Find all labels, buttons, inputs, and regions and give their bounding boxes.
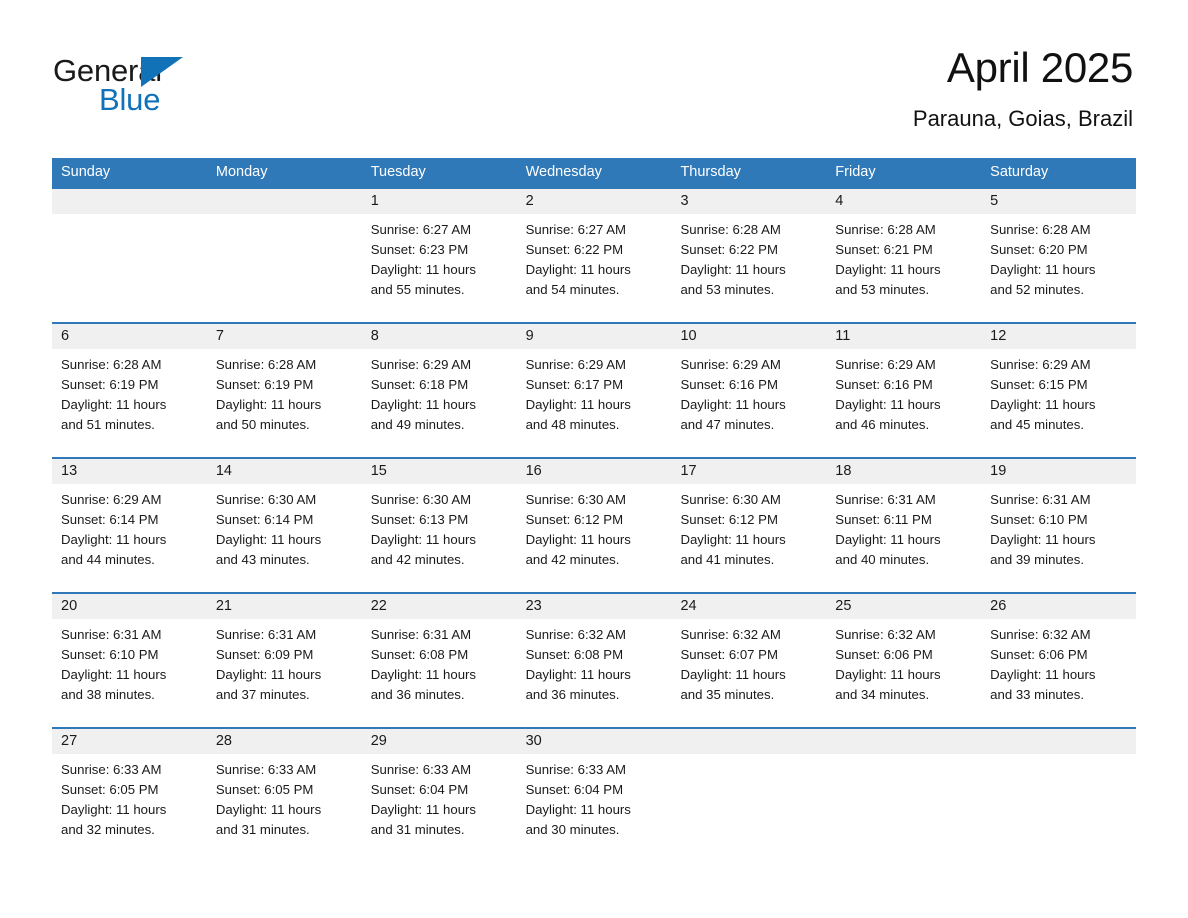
day-info: Sunrise: 6:31 AM Sunset: 6:09 PM Dayligh… — [216, 625, 353, 705]
day-number: 11 — [835, 324, 972, 349]
sunset-text: Sunset: 6:23 PM — [371, 240, 508, 260]
weekday-header-monday: Monday — [207, 158, 362, 187]
sunrise-text: Sunrise: 6:32 AM — [835, 625, 972, 645]
day-number: 23 — [526, 594, 663, 619]
daylight-text-line2: and 34 minutes. — [835, 685, 972, 705]
sunrise-text: Sunrise: 6:33 AM — [61, 760, 198, 780]
sunrise-text: Sunrise: 6:29 AM — [61, 490, 198, 510]
daylight-text-line2: and 50 minutes. — [216, 415, 353, 435]
sunset-text: Sunset: 6:14 PM — [216, 510, 353, 530]
daylight-text-line2: and 52 minutes. — [990, 280, 1127, 300]
daylight-text-line1: Daylight: 11 hours — [216, 665, 353, 685]
daylight-text-line2: and 33 minutes. — [990, 685, 1127, 705]
sunrise-text: Sunrise: 6:27 AM — [526, 220, 663, 240]
day-number: 16 — [526, 459, 663, 484]
daylight-text-line1: Daylight: 11 hours — [371, 395, 508, 415]
day-cell[interactable]: 11 Sunrise: 6:29 AM Sunset: 6:16 PM Dayl… — [826, 324, 981, 457]
day-cell[interactable]: 28 Sunrise: 6:33 AM Sunset: 6:05 PM Dayl… — [207, 729, 362, 857]
day-cell[interactable] — [52, 189, 207, 322]
daylight-text-line1: Daylight: 11 hours — [835, 395, 972, 415]
daylight-text-line2: and 49 minutes. — [371, 415, 508, 435]
day-info: Sunrise: 6:27 AM Sunset: 6:22 PM Dayligh… — [526, 220, 663, 300]
page-title: April 2025 — [913, 44, 1133, 92]
daylight-text-line1: Daylight: 11 hours — [990, 530, 1127, 550]
sunset-text: Sunset: 6:10 PM — [61, 645, 198, 665]
day-number: 20 — [61, 594, 198, 619]
daylight-text-line2: and 32 minutes. — [61, 820, 198, 840]
day-number: 24 — [680, 594, 817, 619]
day-cell[interactable]: 8 Sunrise: 6:29 AM Sunset: 6:18 PM Dayli… — [362, 324, 517, 457]
sunrise-text: Sunrise: 6:30 AM — [371, 490, 508, 510]
daylight-text-line1: Daylight: 11 hours — [680, 665, 817, 685]
day-number: 18 — [835, 459, 972, 484]
daylight-text-line2: and 55 minutes. — [371, 280, 508, 300]
daylight-text-line1: Daylight: 11 hours — [216, 800, 353, 820]
daylight-text-line2: and 54 minutes. — [526, 280, 663, 300]
daylight-text-line1: Daylight: 11 hours — [990, 665, 1127, 685]
sunset-text: Sunset: 6:04 PM — [526, 780, 663, 800]
sunset-text: Sunset: 6:07 PM — [680, 645, 817, 665]
day-number: 12 — [990, 324, 1127, 349]
day-number: 5 — [990, 189, 1127, 214]
day-cell[interactable]: 2 Sunrise: 6:27 AM Sunset: 6:22 PM Dayli… — [517, 189, 672, 322]
daylight-text-line2: and 36 minutes. — [371, 685, 508, 705]
calendar-week-row: 6 Sunrise: 6:28 AM Sunset: 6:19 PM Dayli… — [52, 322, 1136, 457]
day-cell[interactable]: 10 Sunrise: 6:29 AM Sunset: 6:16 PM Dayl… — [671, 324, 826, 457]
sunrise-text: Sunrise: 6:33 AM — [216, 760, 353, 780]
daylight-text-line2: and 41 minutes. — [680, 550, 817, 570]
day-cell[interactable]: 30 Sunrise: 6:33 AM Sunset: 6:04 PM Dayl… — [517, 729, 672, 857]
sunset-text: Sunset: 6:19 PM — [216, 375, 353, 395]
day-cell[interactable]: 5 Sunrise: 6:28 AM Sunset: 6:20 PM Dayli… — [981, 189, 1136, 322]
daylight-text-line2: and 46 minutes. — [835, 415, 972, 435]
day-number: 2 — [526, 189, 663, 214]
daylight-text-line2: and 44 minutes. — [61, 550, 198, 570]
day-number: 25 — [835, 594, 972, 619]
day-number: 14 — [216, 459, 353, 484]
day-cell[interactable]: 22 Sunrise: 6:31 AM Sunset: 6:08 PM Dayl… — [362, 594, 517, 727]
weekday-header-wednesday: Wednesday — [517, 158, 672, 187]
day-cell[interactable]: 27 Sunrise: 6:33 AM Sunset: 6:05 PM Dayl… — [52, 729, 207, 857]
day-cell[interactable]: 4 Sunrise: 6:28 AM Sunset: 6:21 PM Dayli… — [826, 189, 981, 322]
sunrise-text: Sunrise: 6:29 AM — [371, 355, 508, 375]
sunrise-text: Sunrise: 6:31 AM — [371, 625, 508, 645]
day-number — [216, 189, 353, 214]
day-info: Sunrise: 6:27 AM Sunset: 6:23 PM Dayligh… — [371, 220, 508, 300]
daylight-text-line2: and 35 minutes. — [680, 685, 817, 705]
day-info: Sunrise: 6:32 AM Sunset: 6:07 PM Dayligh… — [680, 625, 817, 705]
sunset-text: Sunset: 6:10 PM — [990, 510, 1127, 530]
day-info: Sunrise: 6:28 AM Sunset: 6:21 PM Dayligh… — [835, 220, 972, 300]
day-number: 6 — [61, 324, 198, 349]
day-cell[interactable]: 26 Sunrise: 6:32 AM Sunset: 6:06 PM Dayl… — [981, 594, 1136, 727]
day-cell[interactable]: 21 Sunrise: 6:31 AM Sunset: 6:09 PM Dayl… — [207, 594, 362, 727]
daylight-text-line1: Daylight: 11 hours — [835, 530, 972, 550]
calendar-page: General Blue April 2025 Parauna, Goias, … — [0, 0, 1188, 918]
day-cell[interactable]: 15 Sunrise: 6:30 AM Sunset: 6:13 PM Dayl… — [362, 459, 517, 592]
day-number: 10 — [680, 324, 817, 349]
day-info: Sunrise: 6:29 AM Sunset: 6:15 PM Dayligh… — [990, 355, 1127, 435]
sunset-text: Sunset: 6:06 PM — [835, 645, 972, 665]
day-cell[interactable]: 24 Sunrise: 6:32 AM Sunset: 6:07 PM Dayl… — [671, 594, 826, 727]
calendar-table: Sunday Monday Tuesday Wednesday Thursday… — [52, 158, 1136, 857]
daylight-text-line1: Daylight: 11 hours — [371, 260, 508, 280]
daylight-text-line2: and 37 minutes. — [216, 685, 353, 705]
daylight-text-line2: and 47 minutes. — [680, 415, 817, 435]
daylight-text-line2: and 48 minutes. — [526, 415, 663, 435]
sunrise-text: Sunrise: 6:33 AM — [526, 760, 663, 780]
sunset-text: Sunset: 6:15 PM — [990, 375, 1127, 395]
page-subtitle: Parauna, Goias, Brazil — [913, 106, 1133, 132]
sunrise-text: Sunrise: 6:29 AM — [680, 355, 817, 375]
weekday-header-tuesday: Tuesday — [362, 158, 517, 187]
daylight-text-line1: Daylight: 11 hours — [990, 260, 1127, 280]
daylight-text-line1: Daylight: 11 hours — [61, 395, 198, 415]
daylight-text-line1: Daylight: 11 hours — [680, 530, 817, 550]
day-info: Sunrise: 6:32 AM Sunset: 6:06 PM Dayligh… — [835, 625, 972, 705]
daylight-text-line1: Daylight: 11 hours — [371, 530, 508, 550]
logo-text-blue: Blue — [99, 83, 160, 117]
sunset-text: Sunset: 6:21 PM — [835, 240, 972, 260]
day-cell[interactable]: 3 Sunrise: 6:28 AM Sunset: 6:22 PM Dayli… — [671, 189, 826, 322]
day-number: 13 — [61, 459, 198, 484]
day-info: Sunrise: 6:28 AM Sunset: 6:19 PM Dayligh… — [61, 355, 198, 435]
daylight-text-line1: Daylight: 11 hours — [371, 800, 508, 820]
daylight-text-line1: Daylight: 11 hours — [371, 665, 508, 685]
daylight-text-line1: Daylight: 11 hours — [526, 530, 663, 550]
day-cell[interactable]: 14 Sunrise: 6:30 AM Sunset: 6:14 PM Dayl… — [207, 459, 362, 592]
daylight-text-line1: Daylight: 11 hours — [990, 395, 1127, 415]
sunrise-text: Sunrise: 6:29 AM — [990, 355, 1127, 375]
sunset-text: Sunset: 6:09 PM — [216, 645, 353, 665]
day-number — [680, 729, 817, 754]
weekday-header-friday: Friday — [826, 158, 981, 187]
day-info: Sunrise: 6:32 AM Sunset: 6:08 PM Dayligh… — [526, 625, 663, 705]
daylight-text-line2: and 31 minutes. — [371, 820, 508, 840]
day-number: 1 — [371, 189, 508, 214]
day-cell[interactable]: 20 Sunrise: 6:31 AM Sunset: 6:10 PM Dayl… — [52, 594, 207, 727]
day-cell[interactable]: 6 Sunrise: 6:28 AM Sunset: 6:19 PM Dayli… — [52, 324, 207, 457]
daylight-text-line2: and 30 minutes. — [526, 820, 663, 840]
day-cell[interactable]: 1 Sunrise: 6:27 AM Sunset: 6:23 PM Dayli… — [362, 189, 517, 322]
sunrise-text: Sunrise: 6:31 AM — [990, 490, 1127, 510]
day-number: 9 — [526, 324, 663, 349]
day-cell[interactable]: 29 Sunrise: 6:33 AM Sunset: 6:04 PM Dayl… — [362, 729, 517, 857]
daylight-text-line2: and 51 minutes. — [61, 415, 198, 435]
daylight-text-line1: Daylight: 11 hours — [680, 395, 817, 415]
day-info: Sunrise: 6:32 AM Sunset: 6:06 PM Dayligh… — [990, 625, 1127, 705]
day-info: Sunrise: 6:31 AM Sunset: 6:10 PM Dayligh… — [61, 625, 198, 705]
sunrise-text: Sunrise: 6:30 AM — [526, 490, 663, 510]
weekday-header-row: Sunday Monday Tuesday Wednesday Thursday… — [52, 158, 1136, 187]
sunrise-text: Sunrise: 6:28 AM — [216, 355, 353, 375]
day-cell[interactable]: 18 Sunrise: 6:31 AM Sunset: 6:11 PM Dayl… — [826, 459, 981, 592]
day-cell[interactable] — [671, 729, 826, 857]
generalblue-logo[interactable]: General Blue — [53, 54, 213, 124]
day-info: Sunrise: 6:33 AM Sunset: 6:04 PM Dayligh… — [371, 760, 508, 840]
daylight-text-line2: and 40 minutes. — [835, 550, 972, 570]
daylight-text-line2: and 42 minutes. — [526, 550, 663, 570]
daylight-text-line1: Daylight: 11 hours — [526, 260, 663, 280]
sunset-text: Sunset: 6:18 PM — [371, 375, 508, 395]
day-number: 28 — [216, 729, 353, 754]
day-info: Sunrise: 6:31 AM Sunset: 6:11 PM Dayligh… — [835, 490, 972, 570]
day-info: Sunrise: 6:33 AM Sunset: 6:04 PM Dayligh… — [526, 760, 663, 840]
weekday-header-thursday: Thursday — [671, 158, 826, 187]
sunrise-text: Sunrise: 6:29 AM — [526, 355, 663, 375]
sunset-text: Sunset: 6:22 PM — [680, 240, 817, 260]
day-info: Sunrise: 6:30 AM Sunset: 6:14 PM Dayligh… — [216, 490, 353, 570]
daylight-text-line1: Daylight: 11 hours — [526, 665, 663, 685]
day-number: 27 — [61, 729, 198, 754]
daylight-text-line1: Daylight: 11 hours — [61, 800, 198, 820]
day-cell[interactable] — [826, 729, 981, 857]
day-number: 21 — [216, 594, 353, 619]
day-number: 30 — [526, 729, 663, 754]
day-cell[interactable]: 23 Sunrise: 6:32 AM Sunset: 6:08 PM Dayl… — [517, 594, 672, 727]
calendar-week-row: 1 Sunrise: 6:27 AM Sunset: 6:23 PM Dayli… — [52, 187, 1136, 322]
day-number — [835, 729, 972, 754]
sunset-text: Sunset: 6:17 PM — [526, 375, 663, 395]
day-info: Sunrise: 6:28 AM Sunset: 6:22 PM Dayligh… — [680, 220, 817, 300]
day-info: Sunrise: 6:28 AM Sunset: 6:19 PM Dayligh… — [216, 355, 353, 435]
sunset-text: Sunset: 6:19 PM — [61, 375, 198, 395]
day-info: Sunrise: 6:29 AM Sunset: 6:17 PM Dayligh… — [526, 355, 663, 435]
day-cell[interactable]: 7 Sunrise: 6:28 AM Sunset: 6:19 PM Dayli… — [207, 324, 362, 457]
day-number: 3 — [680, 189, 817, 214]
weekday-header-sunday: Sunday — [52, 158, 207, 187]
day-number: 7 — [216, 324, 353, 349]
daylight-text-line2: and 31 minutes. — [216, 820, 353, 840]
sunrise-text: Sunrise: 6:32 AM — [990, 625, 1127, 645]
daylight-text-line2: and 42 minutes. — [371, 550, 508, 570]
sunset-text: Sunset: 6:16 PM — [680, 375, 817, 395]
day-cell[interactable]: 19 Sunrise: 6:31 AM Sunset: 6:10 PM Dayl… — [981, 459, 1136, 592]
sunset-text: Sunset: 6:08 PM — [371, 645, 508, 665]
sunrise-text: Sunrise: 6:28 AM — [835, 220, 972, 240]
day-cell[interactable]: 13 Sunrise: 6:29 AM Sunset: 6:14 PM Dayl… — [52, 459, 207, 592]
daylight-text-line1: Daylight: 11 hours — [216, 530, 353, 550]
sunset-text: Sunset: 6:16 PM — [835, 375, 972, 395]
sunset-text: Sunset: 6:12 PM — [680, 510, 817, 530]
sunset-text: Sunset: 6:20 PM — [990, 240, 1127, 260]
sunset-text: Sunset: 6:06 PM — [990, 645, 1127, 665]
daylight-text-line1: Daylight: 11 hours — [526, 395, 663, 415]
day-cell[interactable] — [981, 729, 1136, 857]
daylight-text-line2: and 53 minutes. — [835, 280, 972, 300]
calendar-week-row: 27 Sunrise: 6:33 AM Sunset: 6:05 PM Dayl… — [52, 727, 1136, 857]
weekday-header-saturday: Saturday — [981, 158, 1136, 187]
day-info: Sunrise: 6:33 AM Sunset: 6:05 PM Dayligh… — [216, 760, 353, 840]
sunrise-text: Sunrise: 6:28 AM — [990, 220, 1127, 240]
daylight-text-line1: Daylight: 11 hours — [680, 260, 817, 280]
day-info: Sunrise: 6:29 AM Sunset: 6:18 PM Dayligh… — [371, 355, 508, 435]
sunset-text: Sunset: 6:05 PM — [216, 780, 353, 800]
sunrise-text: Sunrise: 6:32 AM — [680, 625, 817, 645]
day-cell[interactable] — [207, 189, 362, 322]
daylight-text-line2: and 38 minutes. — [61, 685, 198, 705]
sunrise-text: Sunrise: 6:29 AM — [835, 355, 972, 375]
daylight-text-line1: Daylight: 11 hours — [835, 260, 972, 280]
sunrise-text: Sunrise: 6:32 AM — [526, 625, 663, 645]
day-number: 19 — [990, 459, 1127, 484]
sunrise-text: Sunrise: 6:30 AM — [216, 490, 353, 510]
day-number: 26 — [990, 594, 1127, 619]
sunset-text: Sunset: 6:13 PM — [371, 510, 508, 530]
day-number: 17 — [680, 459, 817, 484]
day-cell[interactable]: 25 Sunrise: 6:32 AM Sunset: 6:06 PM Dayl… — [826, 594, 981, 727]
day-info: Sunrise: 6:29 AM Sunset: 6:16 PM Dayligh… — [835, 355, 972, 435]
day-number: 29 — [371, 729, 508, 754]
calendar-week-row: 20 Sunrise: 6:31 AM Sunset: 6:10 PM Dayl… — [52, 592, 1136, 727]
sunrise-text: Sunrise: 6:28 AM — [680, 220, 817, 240]
sunrise-text: Sunrise: 6:31 AM — [61, 625, 198, 645]
sunrise-text: Sunrise: 6:31 AM — [216, 625, 353, 645]
sunset-text: Sunset: 6:12 PM — [526, 510, 663, 530]
day-info: Sunrise: 6:31 AM Sunset: 6:08 PM Dayligh… — [371, 625, 508, 705]
sunset-text: Sunset: 6:22 PM — [526, 240, 663, 260]
day-cell[interactable]: 16 Sunrise: 6:30 AM Sunset: 6:12 PM Dayl… — [517, 459, 672, 592]
daylight-text-line1: Daylight: 11 hours — [526, 800, 663, 820]
day-number: 4 — [835, 189, 972, 214]
daylight-text-line1: Daylight: 11 hours — [835, 665, 972, 685]
sunset-text: Sunset: 6:04 PM — [371, 780, 508, 800]
page-header: General Blue April 2025 Parauna, Goias, … — [53, 44, 1133, 144]
day-number — [61, 189, 198, 214]
day-info: Sunrise: 6:30 AM Sunset: 6:12 PM Dayligh… — [680, 490, 817, 570]
daylight-text-line2: and 36 minutes. — [526, 685, 663, 705]
daylight-text-line1: Daylight: 11 hours — [61, 665, 198, 685]
sunset-text: Sunset: 6:05 PM — [61, 780, 198, 800]
daylight-text-line2: and 39 minutes. — [990, 550, 1127, 570]
day-number — [990, 729, 1127, 754]
daylight-text-line1: Daylight: 11 hours — [216, 395, 353, 415]
sunset-text: Sunset: 6:14 PM — [61, 510, 198, 530]
day-info: Sunrise: 6:33 AM Sunset: 6:05 PM Dayligh… — [61, 760, 198, 840]
title-block: April 2025 Parauna, Goias, Brazil — [913, 44, 1133, 132]
day-info: Sunrise: 6:30 AM Sunset: 6:13 PM Dayligh… — [371, 490, 508, 570]
day-cell[interactable]: 17 Sunrise: 6:30 AM Sunset: 6:12 PM Dayl… — [671, 459, 826, 592]
sunrise-text: Sunrise: 6:28 AM — [61, 355, 198, 375]
day-number: 15 — [371, 459, 508, 484]
daylight-text-line2: and 45 minutes. — [990, 415, 1127, 435]
day-number: 22 — [371, 594, 508, 619]
day-info: Sunrise: 6:29 AM Sunset: 6:16 PM Dayligh… — [680, 355, 817, 435]
daylight-text-line2: and 53 minutes. — [680, 280, 817, 300]
day-number: 8 — [371, 324, 508, 349]
day-cell[interactable]: 12 Sunrise: 6:29 AM Sunset: 6:15 PM Dayl… — [981, 324, 1136, 457]
sunset-text: Sunset: 6:08 PM — [526, 645, 663, 665]
calendar-week-row: 13 Sunrise: 6:29 AM Sunset: 6:14 PM Dayl… — [52, 457, 1136, 592]
day-cell[interactable]: 9 Sunrise: 6:29 AM Sunset: 6:17 PM Dayli… — [517, 324, 672, 457]
day-info: Sunrise: 6:30 AM Sunset: 6:12 PM Dayligh… — [526, 490, 663, 570]
day-info: Sunrise: 6:28 AM Sunset: 6:20 PM Dayligh… — [990, 220, 1127, 300]
day-info: Sunrise: 6:29 AM Sunset: 6:14 PM Dayligh… — [61, 490, 198, 570]
daylight-text-line1: Daylight: 11 hours — [61, 530, 198, 550]
day-info: Sunrise: 6:31 AM Sunset: 6:10 PM Dayligh… — [990, 490, 1127, 570]
daylight-text-line2: and 43 minutes. — [216, 550, 353, 570]
sunset-text: Sunset: 6:11 PM — [835, 510, 972, 530]
sunrise-text: Sunrise: 6:30 AM — [680, 490, 817, 510]
sunrise-text: Sunrise: 6:33 AM — [371, 760, 508, 780]
sunrise-text: Sunrise: 6:31 AM — [835, 490, 972, 510]
sunrise-text: Sunrise: 6:27 AM — [371, 220, 508, 240]
